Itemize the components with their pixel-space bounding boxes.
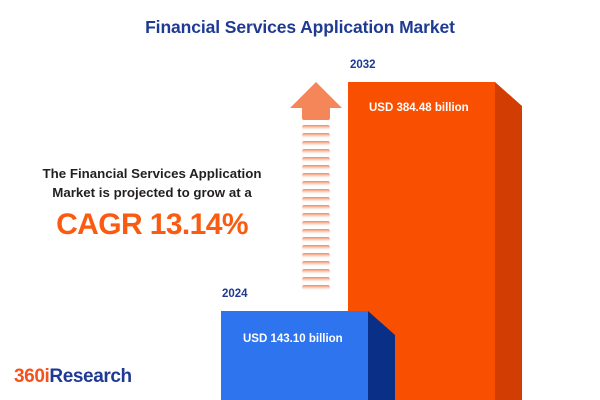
bar-2024-value-label: USD 143.10 billion xyxy=(243,333,343,345)
year-label-2024: 2024 xyxy=(222,288,248,300)
callout-line-1: The Financial Services Application xyxy=(14,164,290,183)
brand-logo: 360iResearch xyxy=(14,366,132,388)
bar-2024: USD 143.10 billion xyxy=(221,311,395,400)
bar-2032-side-face xyxy=(495,82,522,400)
page-title: Financial Services Application Market xyxy=(0,17,600,38)
cagr-callout: The Financial Services Application Marke… xyxy=(14,164,290,242)
cagr-value: CAGR 13.14% xyxy=(14,208,290,242)
year-label-2032: 2032 xyxy=(350,59,376,71)
logo-text-360: 360 xyxy=(14,366,45,387)
bar-2032-value-label: USD 384.48 billion xyxy=(369,102,469,114)
bar-2024-front-face xyxy=(221,311,368,400)
growth-arrow-icon xyxy=(288,80,344,296)
bar-2024-side-face xyxy=(368,311,395,400)
logo-text-research: Research xyxy=(49,366,131,387)
callout-line-2: Market is projected to grow at a xyxy=(14,183,290,202)
